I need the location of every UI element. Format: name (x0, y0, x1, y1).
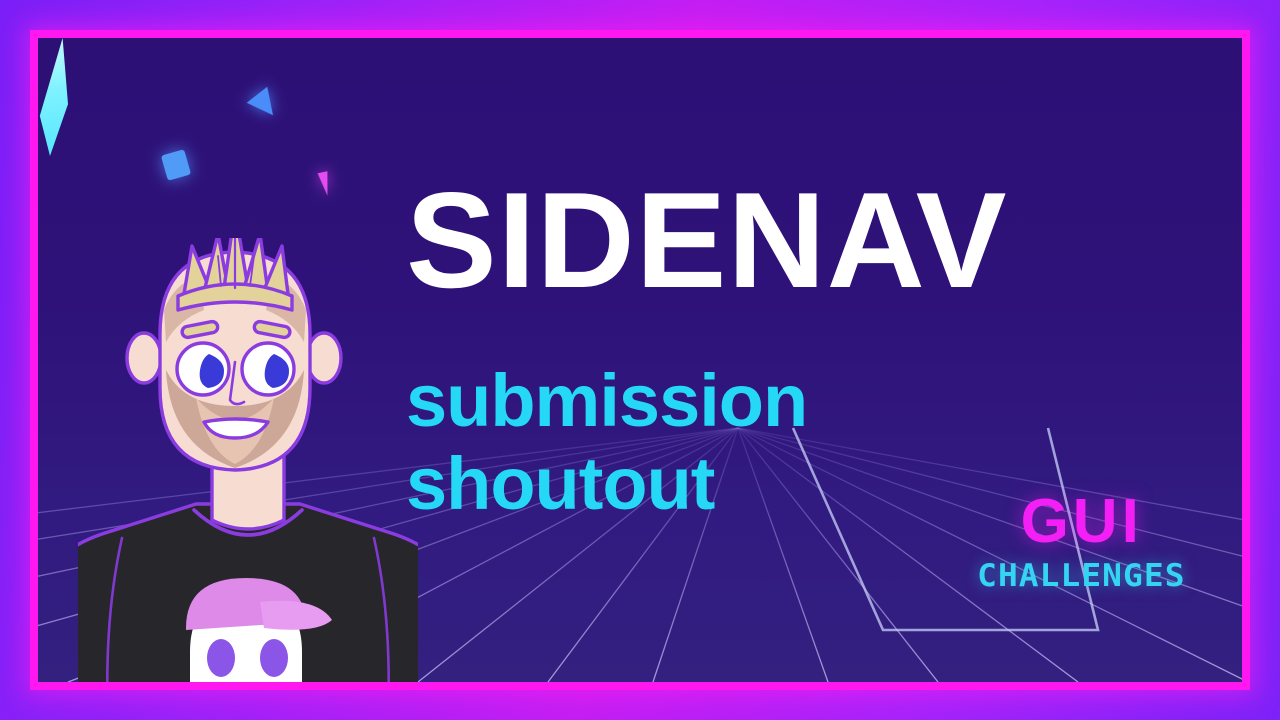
confetti-blue-triangle-icon (247, 87, 283, 123)
gui-challenges-logo: GUI CHALLENGES (983, 491, 1180, 592)
logo-secondary-text: CHALLENGES (977, 561, 1185, 592)
subtitle-line-2: shoutout (406, 443, 807, 526)
avatar-ear-left (127, 333, 161, 383)
thumbnail-stage: SIDENAV submission shoutout GUI CHALLENG… (38, 38, 1242, 682)
avatar-ear-right (307, 333, 341, 383)
thumbnail-canvas: SIDENAV submission shoutout GUI CHALLENG… (0, 0, 1280, 720)
confetti-pink-sliver-icon (318, 171, 333, 197)
cyan-shard-icon (38, 38, 68, 156)
logo-primary-text: GUI (983, 491, 1180, 553)
confetti-blue-square-icon (161, 149, 191, 181)
avatar-illustration (78, 238, 418, 682)
subtitle-line-1: submission (406, 360, 807, 443)
subtitle: submission shoutout (406, 360, 807, 526)
page-title: SIDENAV (406, 176, 1007, 305)
avatar (78, 238, 418, 682)
